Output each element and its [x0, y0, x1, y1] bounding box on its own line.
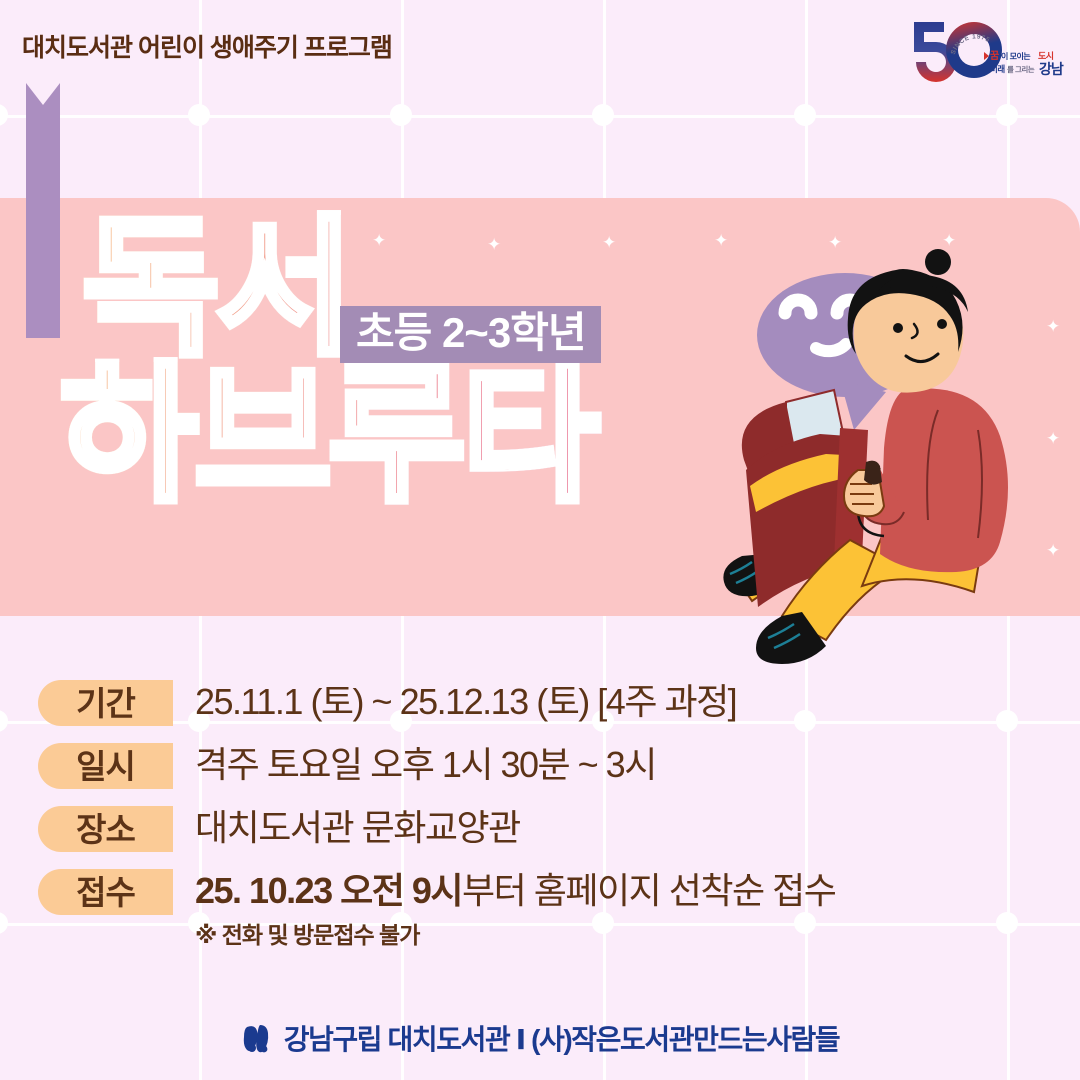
info-row: 접수 25. 10.23 오전 9시부터 홈페이지 선착순 접수 ※ 전화 및 … — [0, 865, 1080, 950]
header: 대치도서관 어린이 생애주기 프로그램 SINCE 1975 꿈 이 모이는 도… — [0, 0, 1080, 100]
info-label: 장소 — [76, 813, 135, 846]
info-list: 기간 25.11.1 (토) ~ 25.12.13 (토) [4주 과정] 일시… — [0, 676, 1080, 959]
grade-badge-label: 초등 2~3학년 — [356, 312, 585, 354]
svg-text:강남: 강남 — [1039, 61, 1064, 77]
info-value: 대치도서관 문화교양관 — [195, 804, 520, 852]
info-label: 기간 — [76, 687, 135, 720]
grid-dot — [0, 104, 8, 126]
info-body: 25.11.1 (토) ~ 25.12.13 (토) [4주 과정] — [195, 676, 736, 726]
footer: 강남구립 대치도서관 Ⅰ (사)작은도서관만드는사람들 — [0, 1018, 1080, 1058]
info-value: 25. 10.23 오전 9시부터 홈페이지 선착순 접수 — [195, 867, 835, 915]
info-label-pill: 접수 — [38, 869, 173, 915]
grid-dot — [188, 104, 210, 126]
child-reading-illustration — [690, 240, 1080, 680]
info-label-pill: 장소 — [38, 806, 173, 852]
child-head — [848, 249, 968, 393]
gangnam-50-logo: SINCE 1975 꿈 이 모이는 도시 미래 를 그리는 강남 — [896, 14, 1066, 90]
grade-badge: 초등 2~3학년 — [340, 306, 601, 363]
info-row: 장소 대치도서관 문화교양관 — [0, 802, 1080, 856]
info-value: 25.11.1 (토) ~ 25.12.13 (토) [4주 과정] — [195, 678, 736, 726]
library-logo-icon — [241, 1021, 275, 1055]
info-note: ※ 전화 및 방문접수 불가 — [195, 916, 835, 950]
hero-title-line-2: 하브루타 — [60, 362, 720, 509]
info-row: 기간 25.11.1 (토) ~ 25.12.13 (토) [4주 과정] — [0, 676, 1080, 730]
info-row: 일시 격주 토요일 오후 1시 30분 ~ 3시 — [0, 739, 1080, 793]
logo-slogan: 꿈 이 모이는 도시 미래 를 그리는 강남 — [984, 50, 1064, 77]
info-body: 격주 토요일 오후 1시 30분 ~ 3시 — [195, 739, 656, 789]
info-value-bold-lead: 25. 10.23 오전 9시 — [195, 870, 462, 911]
grid-dot — [592, 104, 614, 126]
info-label-pill: 기간 — [38, 680, 173, 726]
footer-text: 강남구립 대치도서관 Ⅰ (사)작은도서관만드는사람들 — [284, 1018, 840, 1058]
info-value-rest: 부터 홈페이지 선착순 접수 — [462, 870, 835, 911]
svg-text:이 모이는: 이 모이는 — [1001, 51, 1031, 61]
bookmark-ribbon — [26, 83, 60, 338]
svg-text:꿈: 꿈 — [990, 50, 999, 62]
grid-dot — [390, 104, 412, 126]
grid-dot — [996, 104, 1018, 126]
info-label: 접수 — [76, 876, 135, 909]
program-kicker: 대치도서관 어린이 생애주기 프로그램 — [22, 28, 392, 64]
info-body: 대치도서관 문화교양관 — [195, 802, 520, 852]
info-value: 격주 토요일 오후 1시 30분 ~ 3시 — [195, 741, 656, 789]
svg-text:를 그리는: 를 그리는 — [1007, 64, 1035, 74]
svg-text:미래: 미래 — [990, 64, 1005, 74]
grid-dot — [794, 104, 816, 126]
svg-text:도시: 도시 — [1038, 51, 1054, 61]
info-label: 일시 — [76, 750, 135, 783]
info-label-pill: 일시 — [38, 743, 173, 789]
info-body: 25. 10.23 오전 9시부터 홈페이지 선착순 접수 ※ 전화 및 방문접… — [195, 865, 835, 950]
